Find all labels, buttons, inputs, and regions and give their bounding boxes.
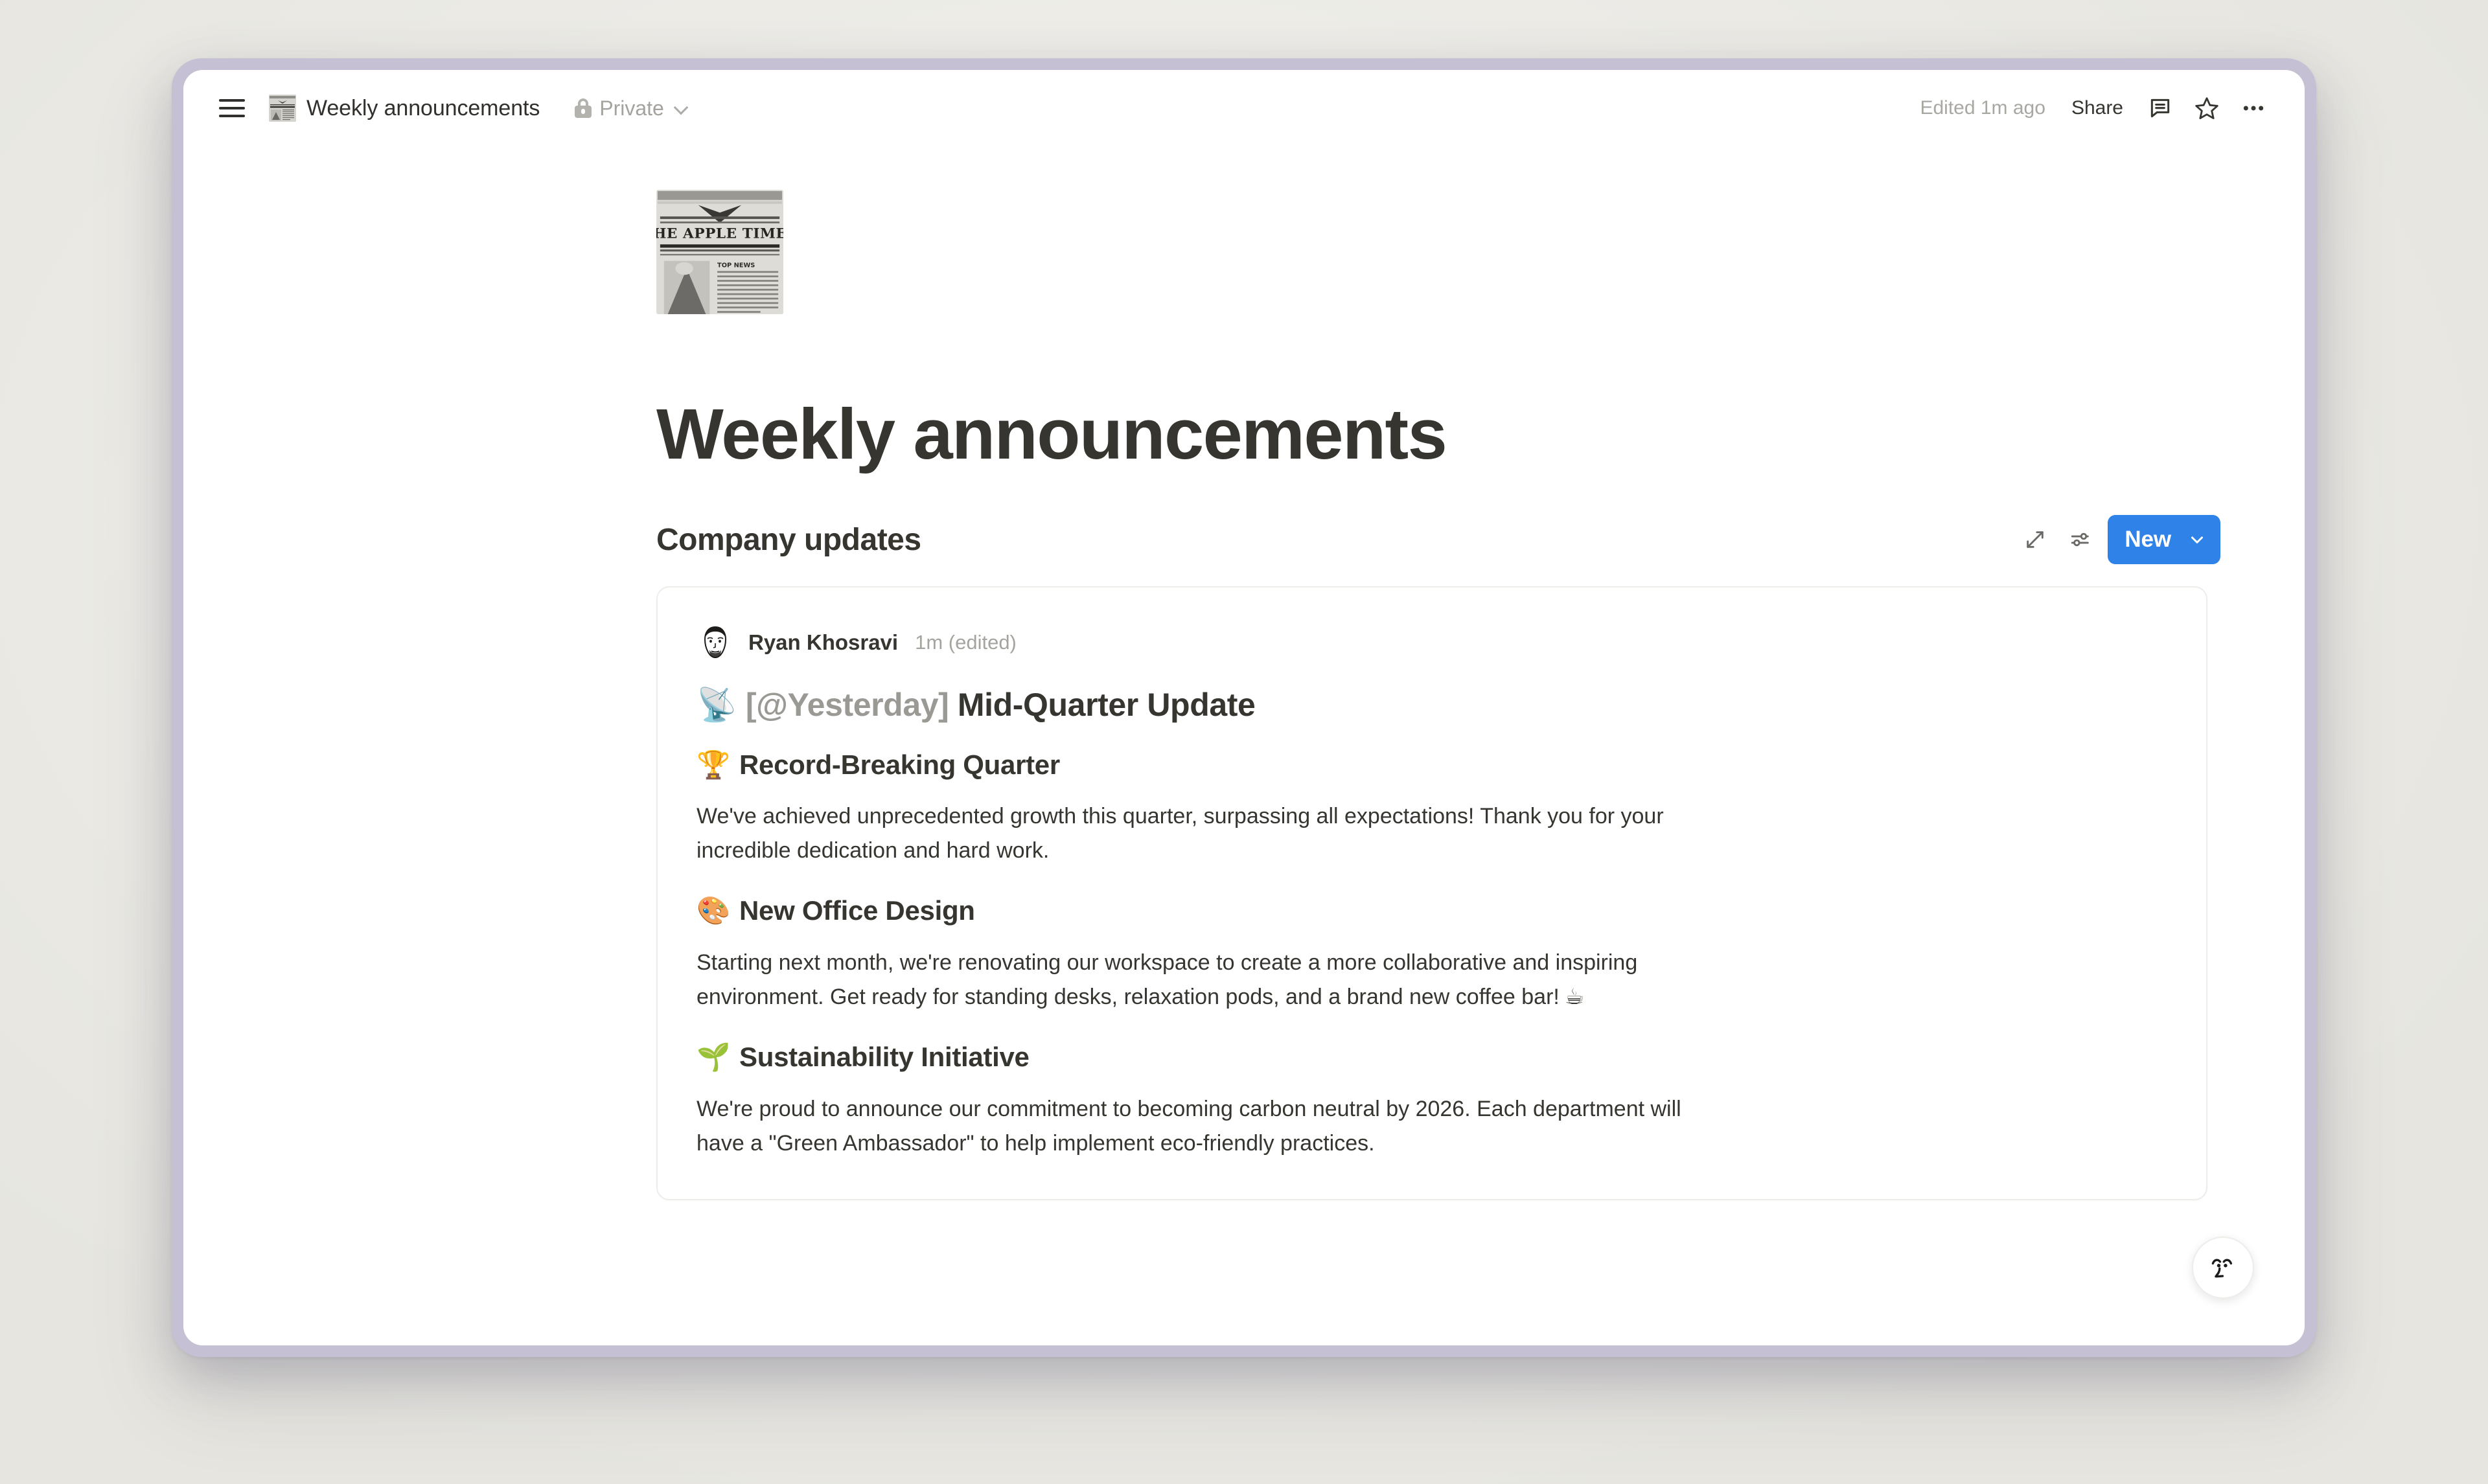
post-subheading: 🏆Record-Breaking Quarter (697, 748, 2160, 783)
chevron-down-icon (674, 101, 689, 115)
post-heading: 📡 [@Yesterday] Mid-Quarter Update (697, 685, 2160, 725)
post-author-name: Ryan Khosravi (748, 630, 898, 655)
hamburger-lines (219, 99, 245, 117)
more-horizontal-icon[interactable] (2232, 87, 2275, 130)
post-card[interactable]: Ryan Khosravi 1m (edited) 📡 [@Yesterday]… (656, 586, 2207, 1200)
post-subheading: 🎨New Office Design (697, 893, 2160, 929)
palette-icon: 🎨 (697, 893, 730, 929)
page-title: Weekly announcements (656, 395, 2227, 474)
post-subheading-text: Record-Breaking Quarter (739, 749, 1060, 780)
top-bar-left: Weekly announcements Private (212, 88, 698, 128)
new-button[interactable]: New (2108, 515, 2220, 564)
trophy-icon: 🏆 (697, 748, 730, 783)
post-subheading-text: Sustainability Initiative (739, 1042, 1030, 1072)
notion-ai-face-icon[interactable] (2192, 1237, 2254, 1299)
new-button-chevron-down-icon[interactable] (2180, 515, 2214, 564)
edited-status: Edited 1m ago (1920, 97, 2045, 119)
section-controls: New (2017, 515, 2220, 564)
post-subheading-text: New Office Design (739, 895, 975, 926)
document-body: THE APPLE TIMES TOP NEWS (183, 190, 2305, 1200)
expand-diagonal-icon[interactable] (2017, 521, 2053, 558)
post-paragraph: We're proud to announce our commitment t… (697, 1092, 1727, 1160)
post-paragraph: Starting next month, we're renovating ou… (697, 946, 1727, 1014)
satellite-icon: 📡 (697, 685, 737, 725)
comment-icon[interactable] (2139, 87, 2182, 130)
hamburger-menu-icon[interactable] (212, 88, 252, 128)
section-title: Company updates (656, 522, 921, 558)
svg-text:TOP NEWS: TOP NEWS (717, 262, 755, 269)
post-timestamp: 1m (edited) (915, 631, 1017, 654)
post-heading-text: Mid-Quarter Update (958, 685, 1256, 725)
post-author-row: Ryan Khosravi 1m (edited) (697, 624, 2160, 661)
lock-icon (575, 98, 592, 118)
section-header-row: Company updates (656, 515, 2227, 564)
new-button-label: New (2125, 527, 2171, 553)
post-paragraph-text: Starting next month, we're renovating ou… (697, 950, 1637, 1009)
filter-sliders-icon[interactable] (2062, 521, 2099, 558)
app-window: Weekly announcements Private Edited 1m a… (183, 70, 2305, 1345)
breadcrumb[interactable]: Weekly announcements (260, 89, 549, 127)
privacy-selector[interactable]: Private (566, 91, 698, 126)
page-newspaper-icon[interactable]: THE APPLE TIMES TOP NEWS (656, 190, 783, 314)
post-paragraph: We've achieved unprecedented growth this… (697, 799, 1727, 867)
privacy-label: Private (599, 97, 664, 120)
top-bar: Weekly announcements Private Edited 1m a… (183, 70, 2305, 146)
share-button[interactable]: Share (2060, 89, 2135, 127)
post-subheading: 🌱Sustainability Initiative (697, 1040, 2160, 1075)
breadcrumb-title: Weekly announcements (306, 96, 540, 121)
coffee-icon: ☕ (1565, 980, 1584, 1014)
user-face-avatar[interactable] (697, 624, 734, 661)
post-heading-mention[interactable]: [@Yesterday] (746, 685, 949, 725)
newspaper-icon (269, 95, 296, 122)
seedling-icon: 🌱 (697, 1040, 730, 1075)
browser-window-frame: Weekly announcements Private Edited 1m a… (172, 58, 2316, 1357)
top-bar-right: Edited 1m ago Share (1920, 87, 2275, 130)
svg-text:THE APPLE TIMES: THE APPLE TIMES (656, 225, 783, 242)
star-icon[interactable] (2185, 87, 2228, 130)
